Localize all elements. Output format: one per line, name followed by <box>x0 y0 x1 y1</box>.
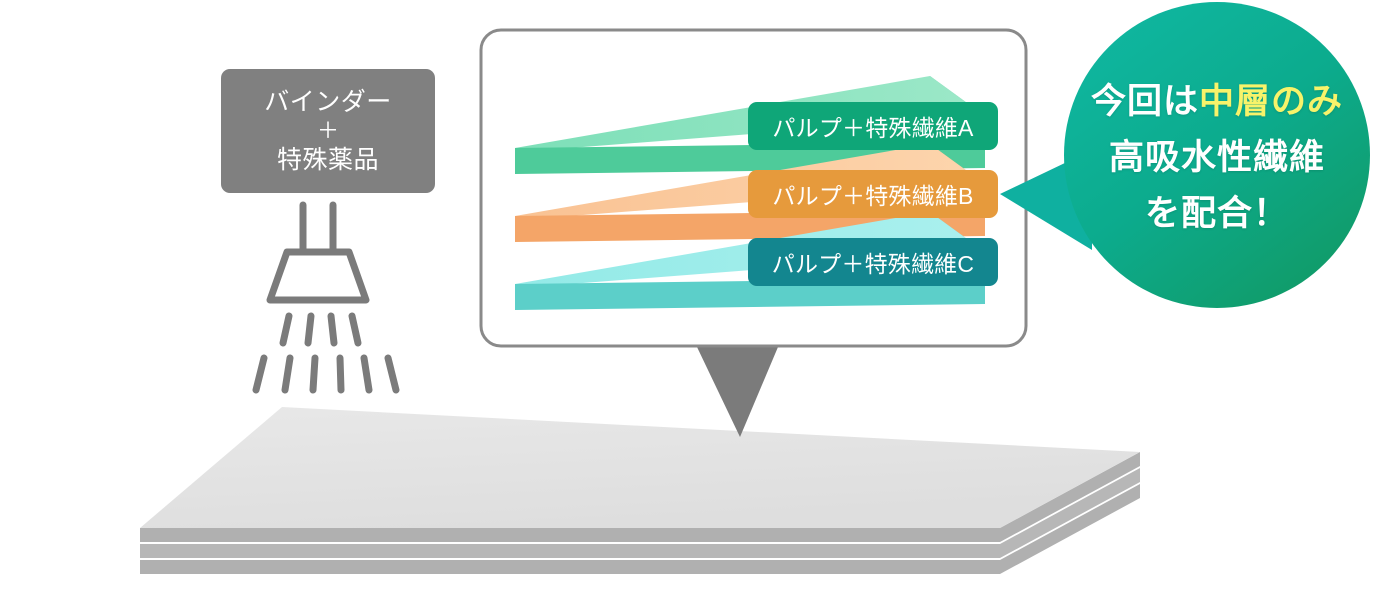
callout-line-3: を配合！ <box>1145 186 1289 242</box>
binder-plus-sign: ＋ <box>317 119 339 143</box>
layered-paper-sheet <box>140 407 1140 574</box>
spray-droplets-upper <box>283 316 358 343</box>
layer-c-badge-label: パルプ＋特殊繊維C <box>748 238 998 286</box>
layer-b-badge-label: パルプ＋特殊繊維B <box>748 170 998 218</box>
callout-text-block: 今回は中層のみ 高吸水性繊維 を配合！ <box>1052 74 1382 242</box>
callout-line-1: 今回は中層のみ <box>1091 74 1343 130</box>
sheet-top-surface <box>140 407 1140 528</box>
binder-box-label: バインダー ＋ 特殊薬品 <box>222 70 434 192</box>
binder-line-1: バインダー <box>264 87 392 117</box>
spray-droplets-lower <box>256 358 396 390</box>
diagram-canvas: バインダー ＋ 特殊薬品 パルプ＋特殊繊維A パルプ＋特殊繊維B パルプ＋特殊繊… <box>0 0 1400 600</box>
binder-line-2: 特殊薬品 <box>277 145 379 175</box>
layer-a-badge-label: パルプ＋特殊繊維A <box>748 102 998 150</box>
magnifier-pointer-triangle <box>697 347 778 437</box>
callout-line-1-plain: 今回は <box>1091 82 1199 121</box>
spray-nozzle-icon <box>270 205 366 300</box>
callout-line-2: 高吸水性繊維 <box>1109 130 1325 186</box>
callout-line-1-highlight: 中層のみ <box>1199 82 1343 121</box>
